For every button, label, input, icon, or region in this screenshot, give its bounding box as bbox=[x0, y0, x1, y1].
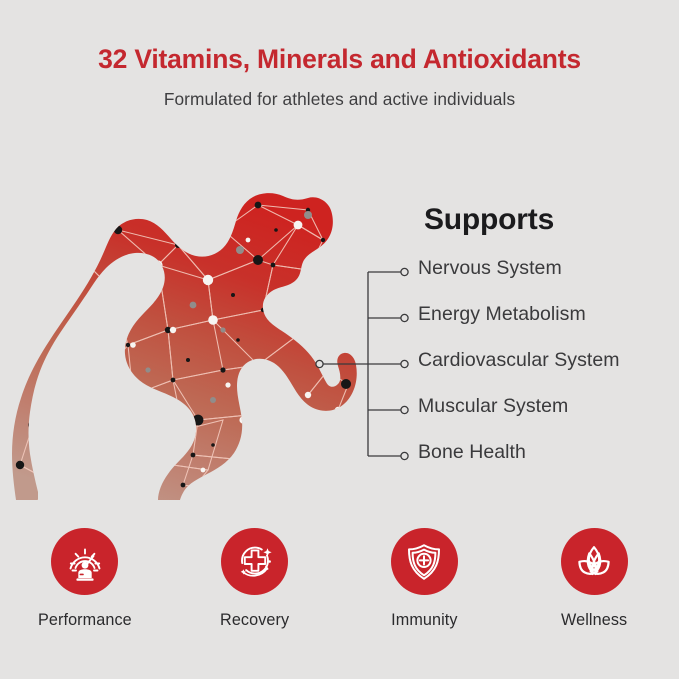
medical-cross-orbit-icon bbox=[234, 541, 276, 583]
benefit-recovery: Recovery bbox=[170, 528, 340, 630]
benefit-recovery-label: Recovery bbox=[220, 611, 289, 630]
supports-bracket-connector bbox=[305, 255, 425, 470]
speedometer-person-icon bbox=[64, 541, 106, 583]
benefit-wellness: Wellness bbox=[509, 528, 679, 630]
benefit-performance-label: Performance bbox=[38, 611, 132, 630]
support-item-nervous-system: Nervous System bbox=[418, 257, 562, 280]
page-title: 32 Vitamins, Minerals and Antioxidants bbox=[0, 44, 679, 75]
supports-list: Nervous System Energy Metabolism Cardiov… bbox=[418, 255, 679, 470]
benefit-recovery-badge bbox=[221, 528, 288, 595]
benefit-performance-badge bbox=[51, 528, 118, 595]
support-item-bone-health: Bone Health bbox=[418, 441, 526, 464]
benefit-wellness-label: Wellness bbox=[561, 611, 627, 630]
benefit-wellness-badge bbox=[561, 528, 628, 595]
benefits-row: Performance bbox=[0, 528, 679, 638]
support-item-energy-metabolism: Energy Metabolism bbox=[418, 303, 586, 326]
benefit-performance: Performance bbox=[0, 528, 170, 630]
benefit-immunity: Immunity bbox=[340, 528, 510, 630]
support-item-muscular-system: Muscular System bbox=[418, 395, 568, 418]
lotus-flower-icon bbox=[573, 541, 615, 583]
infographic-canvas: 32 Vitamins, Minerals and Antioxidants F… bbox=[0, 0, 679, 679]
support-item-cardiovascular-system: Cardiovascular System bbox=[418, 349, 620, 372]
benefit-immunity-badge bbox=[391, 528, 458, 595]
supports-heading: Supports bbox=[424, 203, 554, 237]
benefit-immunity-label: Immunity bbox=[391, 611, 457, 630]
shield-plus-icon bbox=[403, 541, 445, 583]
page-subtitle: Formulated for athletes and active indiv… bbox=[0, 89, 679, 110]
